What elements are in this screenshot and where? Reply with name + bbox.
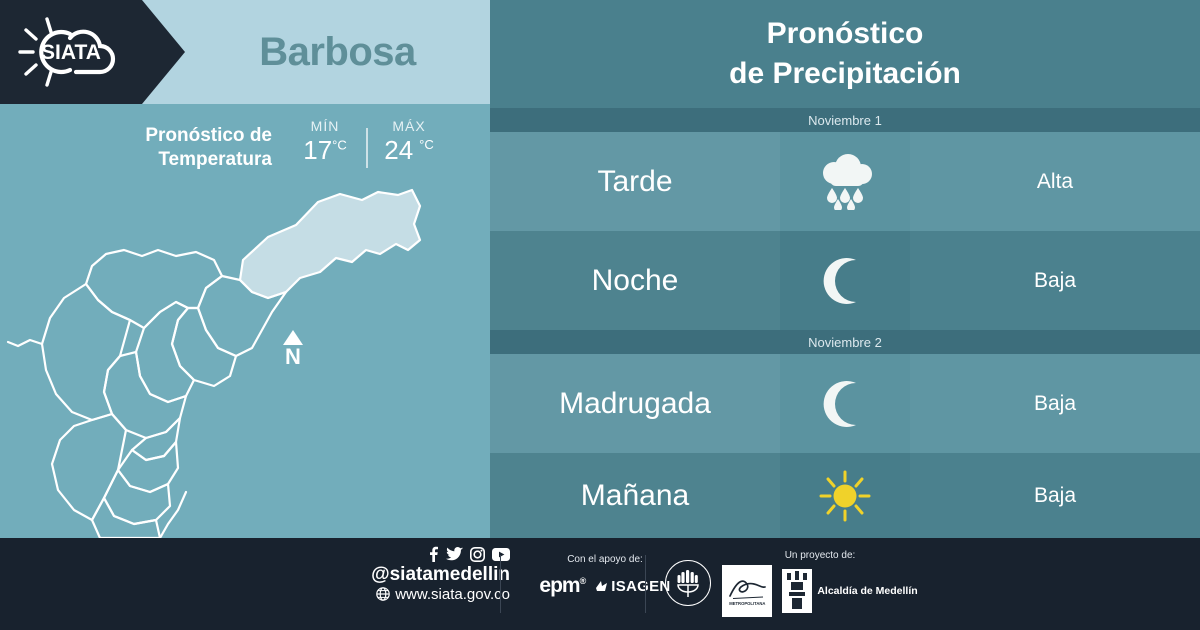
probability-cell: Baja (910, 354, 1200, 453)
epm-logo: epm® (539, 574, 585, 598)
period-cell: Madrugada (490, 354, 780, 453)
weather-icon-cell (780, 453, 910, 538)
map-region-caldas (92, 498, 160, 538)
alcaldia-crest-icon (782, 569, 812, 613)
unal-seal-wrap (665, 560, 711, 606)
project-label: Un proyecto de: (710, 550, 930, 561)
probability-label: Baja (1034, 484, 1076, 508)
instagram-icon[interactable] (470, 547, 485, 562)
unal-seal-glyph (673, 567, 703, 599)
isagen-logo: ISAGEN (595, 578, 670, 595)
forecast-row[interactable]: Noche Baja (490, 231, 1200, 330)
infographic-canvas: SIATA Barbosa Pronóstico de Temperatura … (0, 0, 1200, 630)
social-handle[interactable]: @siatamedellin (371, 564, 510, 586)
period-label: Madrugada (559, 387, 711, 421)
facebook-icon[interactable] (428, 546, 439, 562)
map-region-south-edge (160, 492, 186, 538)
epm-logo-text: epm (539, 574, 579, 597)
min-unit: °C (332, 137, 347, 152)
probability-label: Baja (1034, 392, 1076, 416)
unal-seal (665, 560, 711, 606)
map-region-la-estrella (52, 414, 126, 520)
period-label: Mañana (581, 479, 689, 513)
area-script-icon (727, 575, 767, 601)
footer-divider-1 (500, 555, 501, 613)
website-row[interactable]: www.siata.gov.co (376, 586, 510, 603)
probability-cell: Baja (910, 453, 1200, 538)
isagen-logo-text: ISAGEN (611, 578, 670, 595)
period-label: Noche (592, 264, 679, 298)
period-label: Tarde (597, 165, 672, 199)
forecast-row[interactable]: Madrugada Baja (490, 354, 1200, 453)
temperature-forecast-block: Pronóstico de Temperatura MÍN 17°C MÁX 2… (0, 118, 440, 184)
project-logos: METROPOLITANA (710, 565, 930, 617)
temperature-min: MÍN 17°C (294, 118, 356, 165)
period-cell: Tarde (490, 132, 780, 231)
weather-icon-cell (780, 132, 910, 231)
probability-label: Alta (1037, 170, 1073, 194)
youtube-icon[interactable] (492, 548, 510, 561)
probability-cell: Alta (910, 132, 1200, 231)
weather-icon-cell (780, 231, 910, 330)
temperature-title-line2: Temperatura (145, 148, 272, 172)
rain-cloud-icon (812, 154, 878, 210)
min-value: 17 (303, 135, 332, 165)
map-region-west-large (42, 284, 130, 420)
alcaldia-medellin-logo: Alcaldía de Medellín (782, 569, 917, 613)
max-label: MÁX (392, 118, 425, 134)
footer: @siatamedellin www.siata.gov.co Con el a… (0, 538, 1200, 630)
map-region-itagui (132, 418, 180, 460)
social-icons (428, 546, 510, 562)
period-cell: Noche (490, 231, 780, 330)
temperature-title: Pronóstico de Temperatura (145, 118, 272, 173)
municipality-map: N (0, 180, 490, 538)
project-block: Un proyecto de: METROPOLITANA (710, 550, 930, 617)
epm-logo-mark: ® (580, 576, 586, 586)
compass-rose: N (275, 330, 311, 388)
map-region-copacabana (172, 308, 236, 386)
forecast-row[interactable]: Tarde (490, 132, 1200, 231)
moon-icon (812, 253, 878, 309)
probability-label: Baja (1034, 269, 1076, 293)
min-value-wrap: 17°C (303, 136, 347, 165)
alcaldia-label: Alcaldía de Medellín (817, 585, 917, 597)
aburra-valley-map-svg (0, 180, 490, 538)
sun-icon (812, 468, 878, 524)
right-panel: Pronóstico de Precipitación Noviembre 1 … (490, 0, 1200, 538)
forecast-row[interactable]: Mañana Ba (490, 453, 1200, 538)
period-cell: Mañana (490, 453, 780, 538)
temperature-max: MÁX 24°C (378, 118, 440, 165)
city-title: Barbosa (185, 0, 490, 104)
date-band-day1: Noviembre 1 (490, 108, 1200, 132)
footer-divider-2 (645, 555, 646, 613)
twitter-icon[interactable] (446, 547, 463, 562)
website-label[interactable]: www.siata.gov.co (395, 586, 510, 603)
globe-icon (376, 587, 390, 601)
min-label: MÍN (311, 118, 340, 134)
sun-cloud-icon: SIATA (14, 12, 134, 92)
date-band-day2: Noviembre 2 (490, 330, 1200, 354)
precipitation-title-line2: de Precipitación (729, 54, 961, 94)
isagen-mark-icon (595, 579, 609, 593)
precipitation-title: Pronóstico de Precipitación (729, 14, 961, 93)
max-value-wrap: 24°C (384, 136, 434, 165)
temperature-title-line1: Pronóstico de (145, 124, 272, 148)
temperature-values: MÍN 17°C MÁX 24°C (294, 118, 440, 168)
left-panel: SIATA Barbosa Pronóstico de Temperatura … (0, 0, 490, 538)
map-region-barbosa (240, 190, 420, 298)
precipitation-header: Pronóstico de Precipitación (490, 0, 1200, 108)
max-value: 24 (384, 135, 413, 165)
compass-north-label: N (285, 346, 301, 368)
moon-icon (812, 376, 878, 432)
weather-icon-cell (780, 354, 910, 453)
max-unit: °C (419, 137, 434, 152)
area-metropolitana-logo: METROPOLITANA (722, 565, 772, 617)
map-boundary-outer (8, 340, 42, 346)
temperature-divider (366, 128, 368, 168)
area-logo-text: METROPOLITANA (729, 601, 765, 606)
svg-text:SIATA: SIATA (41, 41, 101, 64)
social-block: @siatamedellin www.siata.gov.co (330, 546, 510, 603)
map-region-bello (136, 302, 194, 402)
precipitation-title-line1: Pronóstico (729, 14, 961, 54)
probability-cell: Baja (910, 231, 1200, 330)
